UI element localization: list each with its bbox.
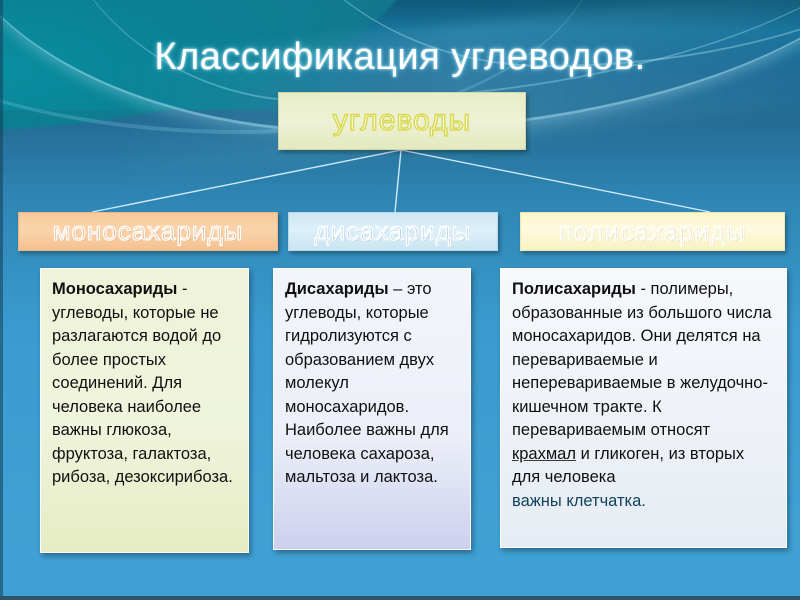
slide-canvas: Классификация углеводов. углеводы моноса… xyxy=(0,0,800,600)
node-polysaccharides[interactable]: полисахариды xyxy=(520,212,785,251)
panel-monosaccharides: Моносахариды - углеводы, которые не разл… xyxy=(40,268,249,553)
panel-disaccharides-heading: Дисахариды xyxy=(285,280,389,298)
panel-monosaccharides-separator: - xyxy=(177,280,187,298)
panel-polysaccharides-heading: Полисахариды xyxy=(512,280,636,298)
panel-polysaccharides-overflow-line: важны клетчатка. xyxy=(512,490,776,514)
panel-disaccharides-body: это углеводы, которые гидролизуются с об… xyxy=(285,280,449,486)
panel-monosaccharides-heading: Моносахариды xyxy=(52,280,177,298)
panel-polysaccharides-underlined-term: крахмал xyxy=(512,445,576,463)
panel-polysaccharides: Полисахариды - полимеры, образованные из… xyxy=(500,268,787,548)
node-disaccharides-label: дисахариды xyxy=(314,216,471,247)
panel-disaccharides: Дисахариды – это углеводы, которые гидро… xyxy=(273,268,471,550)
slide-left-edge xyxy=(0,0,3,600)
node-carbohydrates[interactable]: углеводы xyxy=(278,92,526,150)
node-polysaccharides-label: полисахариды xyxy=(559,216,746,247)
panel-polysaccharides-separator: - xyxy=(636,280,651,298)
panel-monosaccharides-body: углеводы, которые не разлагаются водой д… xyxy=(52,304,233,487)
node-monosaccharides-label: моносахариды xyxy=(53,216,244,247)
slide-bottom-edge xyxy=(0,596,800,600)
node-carbohydrates-label: углеводы xyxy=(333,104,471,138)
panel-disaccharides-separator: – xyxy=(389,280,407,298)
node-disaccharides[interactable]: дисахариды xyxy=(288,212,498,251)
slide-title: Классификация углеводов. xyxy=(0,36,800,79)
panel-polysaccharides-body-part-1: полимеры, образованные из большого числа… xyxy=(512,280,772,439)
node-monosaccharides[interactable]: моносахариды xyxy=(18,212,278,251)
